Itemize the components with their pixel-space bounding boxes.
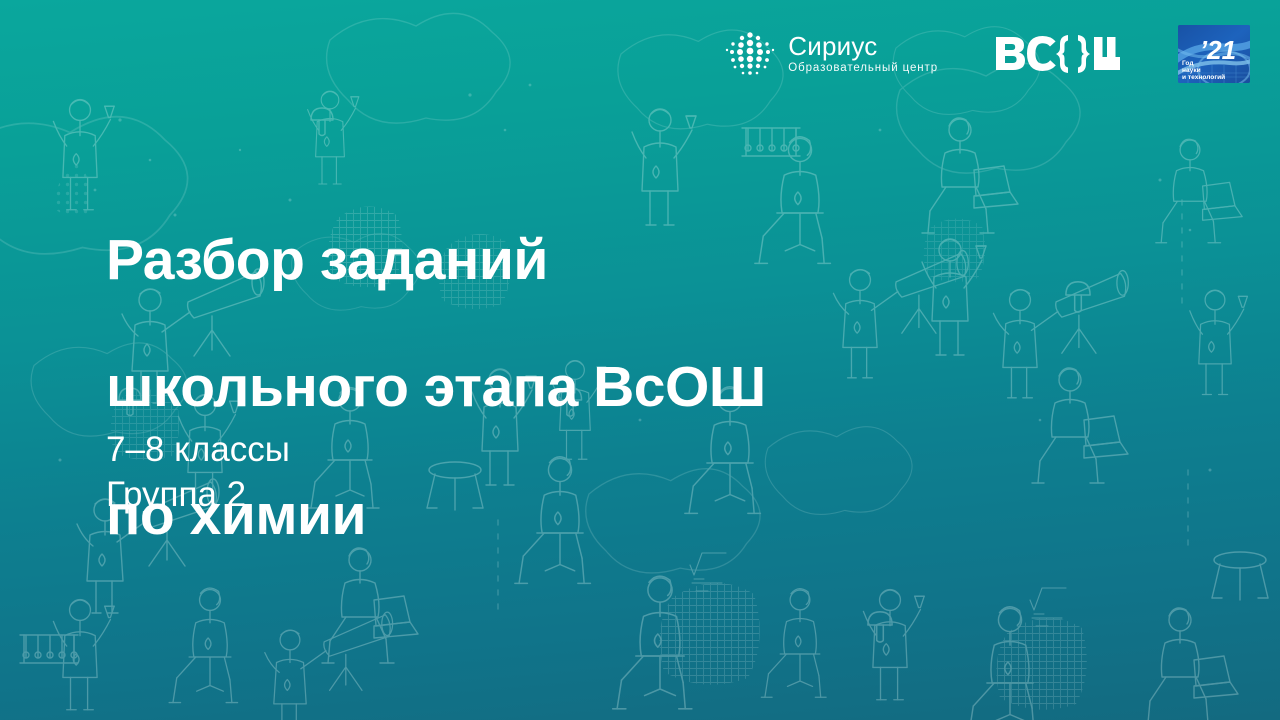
svg-text:Год: Год xyxy=(1182,60,1194,67)
year-of-science-badge-icon: ’21 Год науки и технологий xyxy=(1178,25,1250,83)
slide-header: Сириус Образовательный центр xyxy=(0,0,1280,108)
title-line-2: школьного этапа ВсОШ xyxy=(106,356,766,420)
sirius-logo: Сириус Образовательный центр xyxy=(724,27,938,81)
sirius-dots-icon xyxy=(724,30,776,78)
subtitle-grade: 7–8 классы xyxy=(106,428,290,473)
vsosh-logo-icon xyxy=(994,31,1122,77)
page-title: Разбор заданий школьного этапа ВсОШ по х… xyxy=(106,165,766,612)
title-line-1: Разбор заданий xyxy=(106,229,766,293)
title-line-3: по химии xyxy=(106,484,766,548)
sirius-logo-name: Сириус xyxy=(788,33,938,59)
presentation-slide: Сириус Образовательный центр xyxy=(0,0,1280,720)
background-illustration xyxy=(0,0,1280,720)
subtitle-group: Группа 2 xyxy=(106,473,290,518)
sirius-logo-subtitle: Образовательный центр xyxy=(788,63,938,75)
svg-text:науки: науки xyxy=(1182,67,1201,74)
slide-content: Разбор заданий школьного этапа ВсОШ по х… xyxy=(106,0,1006,720)
svg-text:и технологий: и технологий xyxy=(1182,73,1225,81)
page-subtitle: 7–8 классы Группа 2 xyxy=(106,428,290,518)
svg-text:’21: ’21 xyxy=(1200,35,1236,65)
year-of-science-badge: ’21 Год науки и технологий xyxy=(1178,25,1250,83)
